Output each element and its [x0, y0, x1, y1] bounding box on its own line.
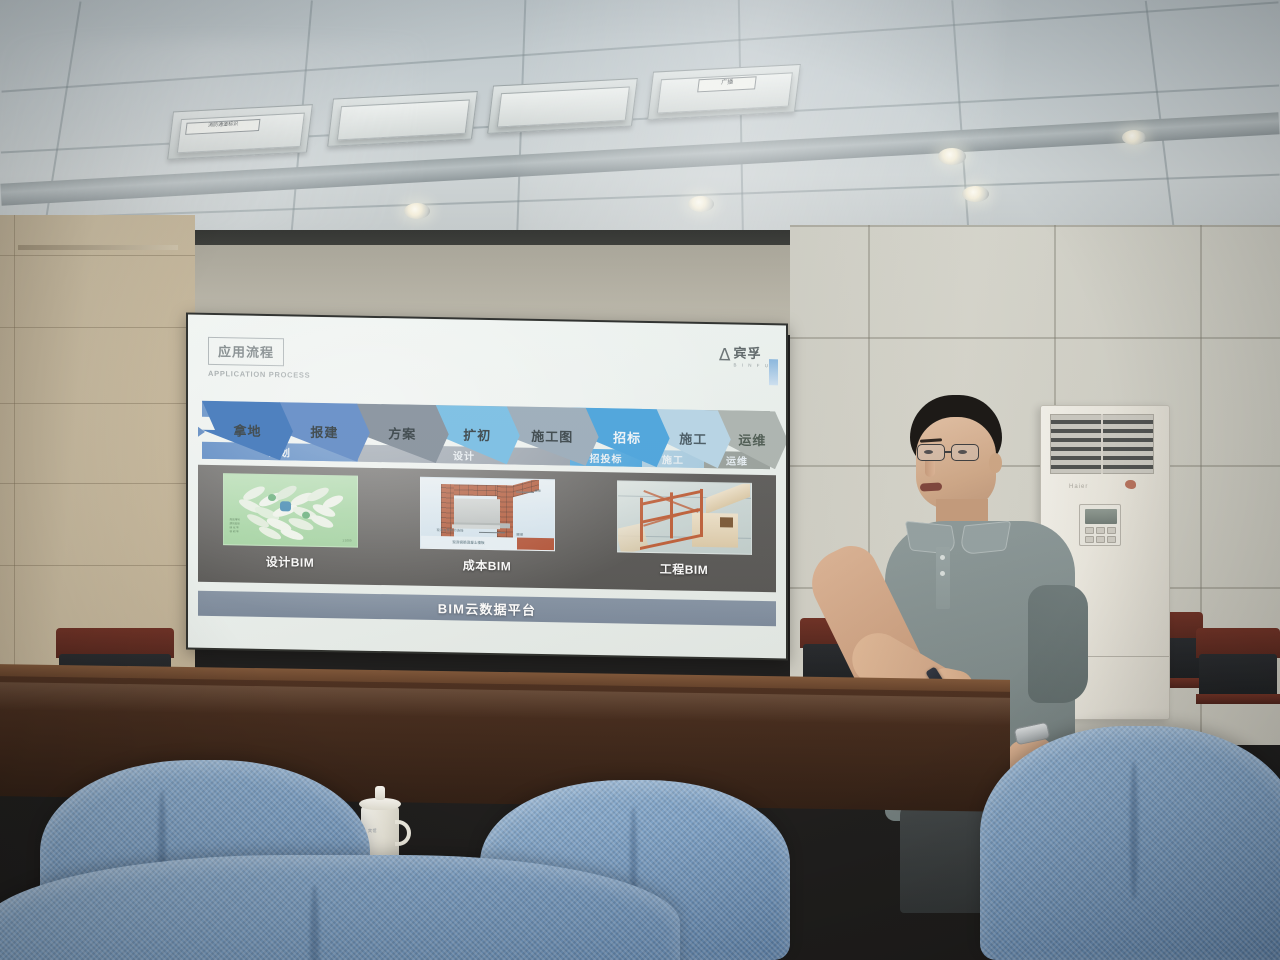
ceiling-coffer: [327, 91, 478, 147]
ceiling-downlight: [938, 148, 966, 165]
ceiling-downlight: [1122, 130, 1146, 145]
logo-mark-icon: ᐃ: [719, 346, 731, 363]
bim-caption: 成本BIM: [463, 557, 512, 575]
wooden-chair: [1196, 628, 1280, 710]
flow-phase-label: 设计: [358, 445, 570, 466]
slide-content: 应用流程 APPLICATION PROCESS ᐃ 宾孚 B I N F U …: [188, 315, 786, 659]
flow-step-label: 方案: [388, 423, 416, 443]
flow-step-label: 施工图: [531, 425, 573, 445]
logo-name-en: B I N F U: [733, 363, 770, 369]
presenter-mouth: [920, 482, 942, 491]
auditorium-seat[interactable]: [980, 726, 1280, 960]
ceiling-coffer: 广播: [647, 64, 801, 120]
ceiling-coffer: [487, 78, 638, 134]
ceiling: 消防通道标识 广播: [0, 0, 1280, 250]
thumb-cost-bim: 墙体 现浇与预制的连接 圈梁 现浇钢筋混凝土楼板: [420, 477, 555, 551]
flow-step-label: 扩初: [463, 424, 491, 444]
bim-caption: 设计BIM: [266, 553, 315, 571]
polo-collar-right: [959, 521, 1012, 556]
flow-step-label: 运维: [738, 429, 766, 449]
glasses-lens-right: [951, 444, 979, 461]
slide-subtitle: APPLICATION PROCESS: [208, 369, 310, 380]
teacup-handle: [395, 820, 411, 846]
thumb-engineering-bim: [617, 480, 752, 554]
teacup-knob: [375, 786, 385, 800]
ac-sticker: [1125, 480, 1136, 489]
polo-button: [940, 571, 945, 576]
ceiling-downlight: [404, 203, 430, 219]
projection-screen: 应用流程 APPLICATION PROCESS ᐃ 宾孚 B I N F U …: [186, 312, 788, 660]
glasses-bridge: [945, 451, 952, 453]
logo-accent-swatch: [769, 359, 778, 385]
flow-step-label: 招标: [613, 427, 641, 447]
thumb-note: 墙体: [535, 488, 542, 493]
flow-step-label: 拿地: [233, 420, 261, 440]
thumb-scale: 1:1000: [342, 538, 351, 543]
glasses-lens-left: [917, 444, 945, 461]
presenter-ear: [989, 453, 1002, 473]
ceiling-downlight: [688, 196, 714, 212]
thumb-legend: 规划用地 建筑密度 绿 化 率 容 积 率: [230, 519, 240, 535]
thumb-design-bim: 规划用地 建筑密度 绿 化 率 容 积 率 1:1000: [223, 473, 358, 547]
thumb-note: 现浇与预制的连接: [437, 527, 464, 532]
thumb-note: 现浇钢筋混凝土楼板: [421, 536, 554, 550]
auditorium-seat[interactable]: [0, 855, 680, 960]
flow-step-label: 报建: [310, 421, 338, 441]
polo-button: [940, 555, 945, 560]
company-logo: ᐃ 宾孚 B I N F U: [719, 342, 770, 368]
conference-room-scene: 消防通道标识 广播: [0, 0, 1280, 960]
wall-left-panels: [0, 215, 195, 695]
slide-title: 应用流程: [208, 337, 284, 366]
bim-panel: 规划用地 建筑密度 绿 化 率 容 积 率 1:1000 设计BIM: [198, 465, 776, 593]
bim-column: 墙体 现浇与预制的连接 圈梁 现浇钢筋混凝土楼板 成本BIM: [407, 477, 567, 585]
bim-caption: 工程BIM: [660, 560, 709, 578]
platform-bar-label: BIM云数据平台: [438, 598, 536, 619]
presenter-nose: [925, 461, 935, 477]
process-flow-diagram: 拿地报建方案扩初施工图招标施工运维 规划设计招投标施工运维: [196, 401, 776, 470]
teacup-marking: 宾馆: [368, 828, 377, 834]
ceiling-coffer: 消防通道标识: [167, 104, 313, 160]
flow-start-arrow-icon: [198, 427, 205, 437]
thumb-note: 圈梁: [517, 532, 524, 537]
bim-column: 规划用地 建筑密度 绿 化 率 容 积 率 1:1000 设计BIM: [210, 473, 370, 581]
flow-step-label: 施工: [679, 428, 707, 448]
polo-sleeve: [1028, 585, 1088, 703]
logo-name-cn: 宾孚: [733, 346, 761, 362]
bim-column: 工程BIM: [604, 480, 764, 588]
platform-bar: BIM云数据平台: [198, 591, 776, 627]
ac-grille-divider: [1101, 414, 1103, 474]
ceiling-downlight: [962, 186, 989, 202]
